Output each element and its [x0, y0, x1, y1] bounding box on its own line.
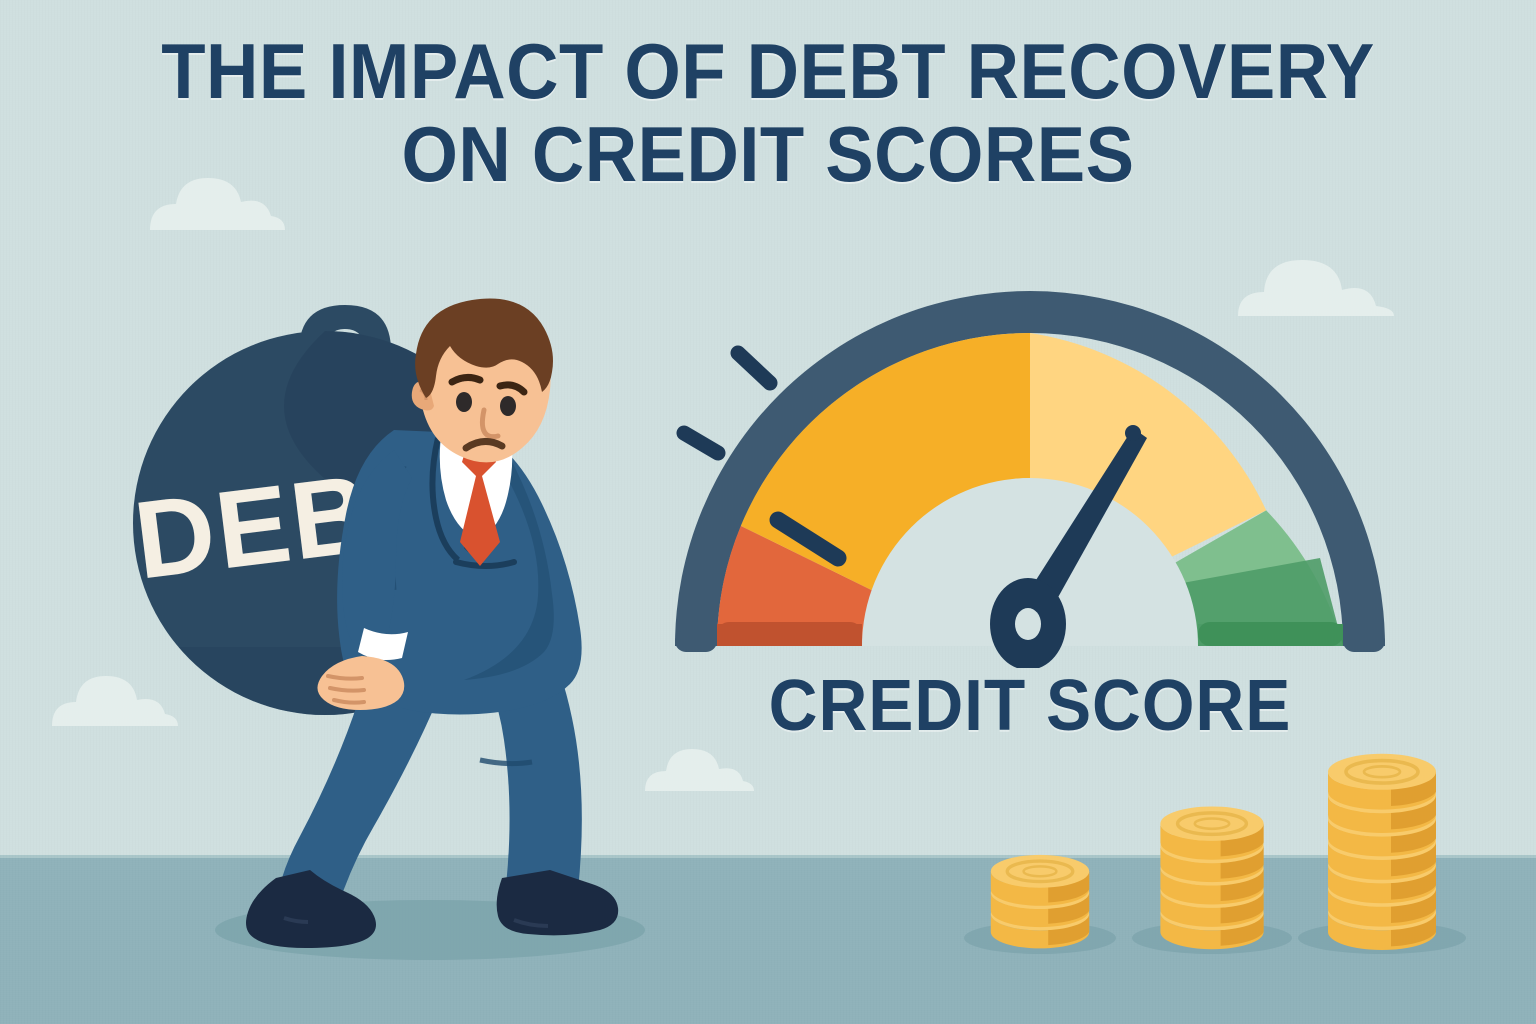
credit-score-gauge [660, 268, 1400, 668]
businessman-figure [180, 290, 700, 970]
cloud-top-left [150, 178, 285, 230]
shoe-back [246, 870, 376, 948]
gauge-hub-hole [1015, 608, 1041, 640]
gauge-caption: CREDIT SCORE [682, 665, 1378, 747]
eye-left [456, 392, 472, 412]
coin-stack-large [1328, 754, 1436, 950]
illustration-canvas: THE IMPACT OF DEBT RECOVERY ON CREDIT SC… [0, 0, 1536, 1024]
coin-stack-small [991, 855, 1089, 948]
shoe-front [497, 870, 619, 935]
gauge-hub [990, 578, 1066, 668]
eye-right [500, 396, 516, 416]
coin-stack-medium [1160, 806, 1263, 949]
